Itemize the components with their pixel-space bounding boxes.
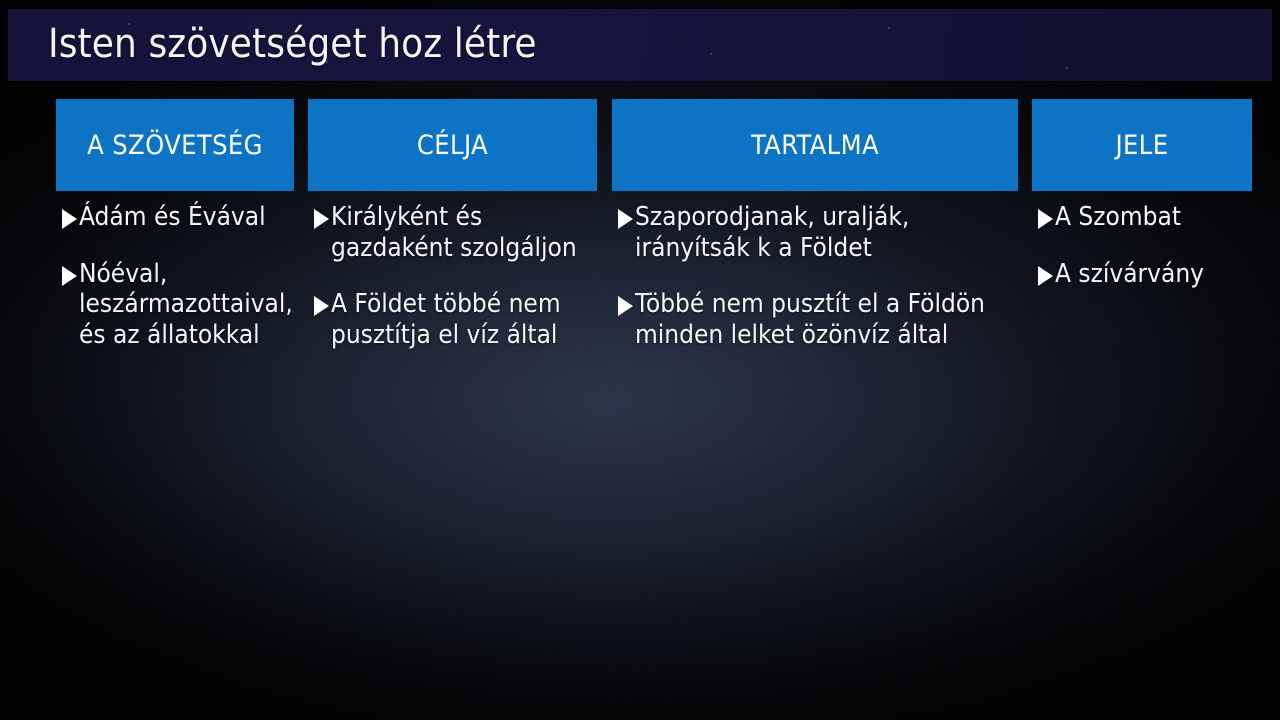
list-item-text: Királyként és gazdaként szolgáljon [331,202,595,263]
triangle-right-icon [314,209,329,229]
triangle-right-icon [1038,209,1053,229]
slide-canvas: Isten szövetséget hoz létre A SZÖVETSÉG … [0,0,1280,720]
column-header-label: JELE [1116,130,1169,161]
list-item-text: Nóéval, leszármazottaival, és az állatok… [79,259,293,351]
column-jele: JELE A Szombat A szívárvány [1032,99,1252,289]
triangle-right-icon [1038,266,1053,286]
list-item: A szívárvány [1038,259,1250,290]
column-tartalma: TARTALMA Szaporodjanak, uralják, irányít… [612,99,1018,351]
column-header-jele[interactable]: JELE [1032,99,1252,191]
list-item: Nóéval, leszármazottaival, és az állatok… [62,259,292,351]
list-item-text: Ádám és Évával [79,202,292,233]
column-body-a-szovetseg: Ádám és Évával Nóéval, leszármazottaival… [56,202,294,351]
column-header-label: CÉLJA [417,130,488,161]
list-item-text: A Szombat [1055,202,1250,233]
column-body-celja: Királyként és gazdaként szolgáljon A Föl… [308,202,597,351]
list-item-text: A Földet többé nem pusztítja el víz álta… [331,289,595,350]
list-item-text: A szívárvány [1055,259,1250,290]
column-header-label: A SZÖVETSÉG [87,130,263,161]
list-item: Szaporodjanak, uralják, irányítsák k a F… [618,202,1016,263]
column-header-celja[interactable]: CÉLJA [308,99,597,191]
column-body-jele: A Szombat A szívárvány [1032,202,1252,289]
list-item: Ádám és Évával [62,202,292,233]
list-item-text: Többé nem pusztít el a Földön minden lel… [635,289,1016,350]
column-a-szovetseg: A SZÖVETSÉG Ádám és Évával Nóéval, leszá… [56,99,294,351]
column-header-label: TARTALMA [751,130,879,161]
column-header-a-szovetseg[interactable]: A SZÖVETSÉG [56,99,294,191]
list-item: A Szombat [1038,202,1250,233]
column-body-tartalma: Szaporodjanak, uralják, irányítsák k a F… [612,202,1018,351]
list-item: Többé nem pusztít el a Földön minden lel… [618,289,1016,350]
list-item: A Földet többé nem pusztítja el víz álta… [314,289,595,350]
triangle-right-icon [314,296,329,316]
triangle-right-icon [618,296,633,316]
column-celja: CÉLJA Királyként és gazdaként szolgáljon… [308,99,597,351]
column-header-tartalma[interactable]: TARTALMA [612,99,1018,191]
list-item-text: Szaporodjanak, uralják, irányítsák k a F… [635,202,1016,263]
triangle-right-icon [62,209,77,229]
columns-container: A SZÖVETSÉG Ádám és Évával Nóéval, leszá… [0,0,1280,720]
list-item: Királyként és gazdaként szolgáljon [314,202,595,263]
triangle-right-icon [62,266,77,286]
triangle-right-icon [618,209,633,229]
